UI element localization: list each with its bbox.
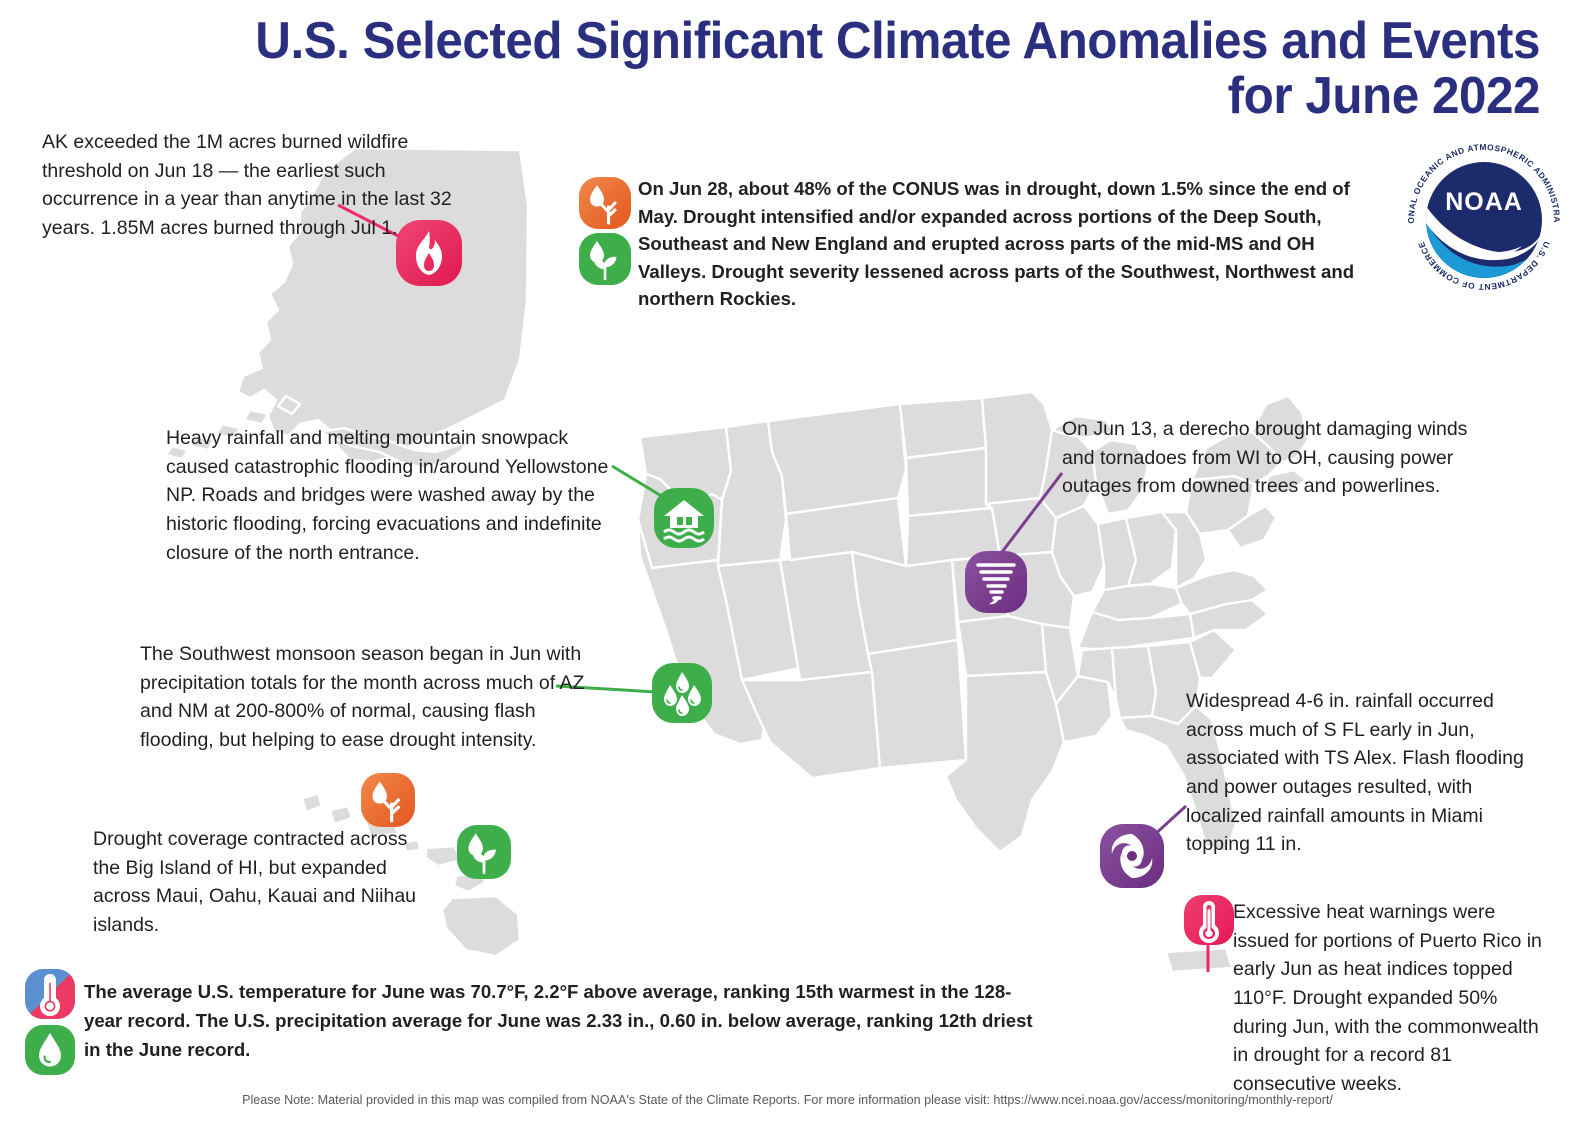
callout-text-monsoon: The Southwest monsoon season began in Ju… [140,640,610,755]
heat-icon[interactable] [1183,894,1235,946]
callout-text-hawaii: Drought coverage contracted across the B… [93,825,423,940]
map-state-tx [946,672,1064,852]
precipitation-icon[interactable] [651,662,713,724]
drought-icon-hawaii[interactable] [360,772,416,828]
temperature-icon[interactable] [24,968,76,1020]
callout-text-puerto-rico: Excessive heat warnings were issued for … [1233,898,1545,1099]
infographic-canvas: U.S. Selected Significant Climate Anomal… [0,0,1575,1125]
map-state-ok [958,616,1046,676]
map-region-puerto-rico [1166,948,1232,972]
callout-text-derecho: On Jun 13, a derecho brought damaging wi… [1062,415,1482,501]
footer-note: Please Note: Material provided in this m… [0,1093,1575,1107]
vegetation-icon-hawaii[interactable] [456,824,512,880]
tornado-icon[interactable] [963,549,1029,615]
noaa-logo: NOAA NATIONAL OCEANIC AND ATMOSPHERIC AD… [1406,140,1562,292]
map-state-oh [1126,512,1176,586]
map-state-co [852,552,958,654]
precipitation-drop-icon[interactable] [24,1024,76,1076]
callout-text-yellowstone: Heavy rainfall and melting mountain snow… [166,424,636,567]
callout-text-florida: Widespread 4-6 in. rainfall occurred acr… [1186,687,1544,859]
drought-icon[interactable] [578,176,632,230]
callout-text-drought: On Jun 28, about 48% of the CONUS was in… [638,175,1360,313]
map-state-az [742,672,880,778]
flooding-icon[interactable] [652,486,716,550]
map-state-mt [768,404,906,514]
callout-text-alaska: AK exceeded the 1M acres burned wildfire… [42,128,480,243]
map-region-aleutians [244,410,268,424]
noaa-logo-wordmark: NOAA [1445,188,1523,216]
map-state-sd [906,448,992,516]
callout-text-summary: The average U.S. temperature for June wa… [84,977,1039,1064]
hurricane-icon[interactable] [1098,822,1166,890]
map-state-ky [1092,584,1182,620]
map-state-nm [868,640,966,768]
vegetation-icon[interactable] [578,232,632,286]
